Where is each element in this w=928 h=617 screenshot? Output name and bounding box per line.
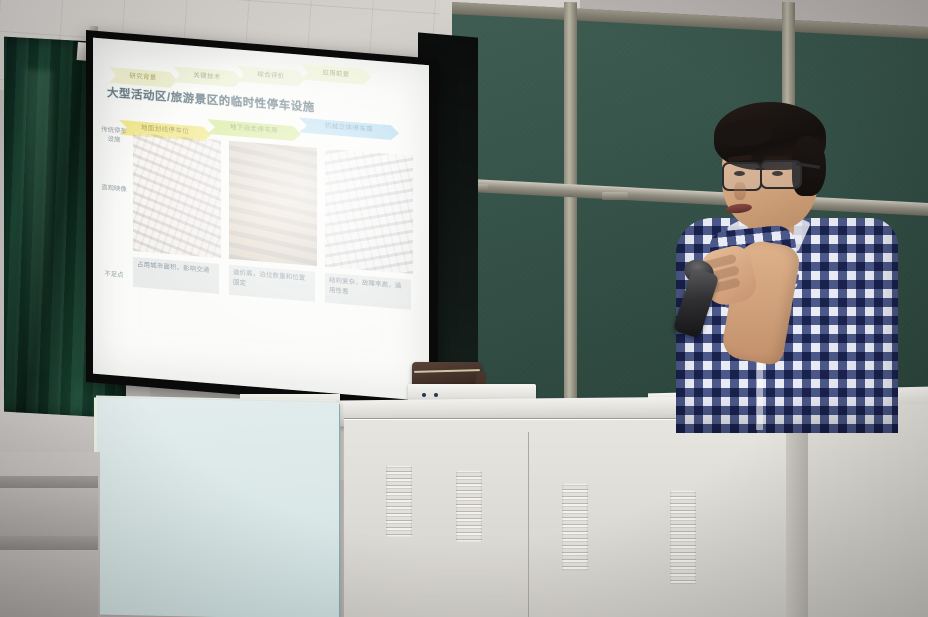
slide-category-1: 地下自走停车库 xyxy=(207,119,301,142)
step-edge xyxy=(0,536,98,550)
slide-category-2: 机械立体停车库 xyxy=(299,118,399,141)
slide-nav-item-1: 关键技术 xyxy=(173,66,241,88)
presenter-nose xyxy=(734,182,746,200)
projection-screen: 研究背景 关键技术 综合评价 应用前景 大型活动区/旅游景区的临时性停车设施 地… xyxy=(86,30,438,411)
cabinet-vent xyxy=(456,470,482,542)
slide-nav-item-3: 应用前景 xyxy=(301,64,371,86)
slide-note-0: 占用城市面积，影响交通 xyxy=(133,257,219,294)
slide-photo-0 xyxy=(133,133,221,258)
slide-row-label-0: 传统停车 设施 xyxy=(99,126,129,146)
lectern-panel xyxy=(94,397,339,617)
right-counter-front xyxy=(800,404,928,617)
cabinet-vent xyxy=(670,490,696,584)
curtain-highlight xyxy=(26,69,52,370)
presenter xyxy=(660,100,895,430)
cabinet-right-edge xyxy=(786,424,808,617)
slide-photo-2 xyxy=(325,149,413,274)
slide-nav-item-0: 研究背景 xyxy=(109,67,177,89)
step-face xyxy=(0,550,98,617)
slide-photo-1 xyxy=(229,141,317,266)
projected-slide: 研究背景 关键技术 综合评价 应用前景 大型活动区/旅游景区的临时性停车设施 地… xyxy=(93,38,429,402)
step-face xyxy=(0,488,98,536)
slide-note-2: 结构复杂，故障率高，适用性差 xyxy=(325,273,411,310)
slide-note-1: 造价高，泊位数量和位置固定 xyxy=(229,265,315,302)
chalkboard-divider xyxy=(564,2,577,402)
eyeglasses-bridge xyxy=(756,168,764,170)
cabinet-vent xyxy=(386,465,412,537)
slide-nav-item-2: 综合评价 xyxy=(237,65,305,87)
photo-scene: 研究背景 关键技术 综合评价 应用前景 大型活动区/旅游景区的临时性停车设施 地… xyxy=(0,0,928,617)
cabinet-vent xyxy=(562,483,588,571)
step-edge xyxy=(0,476,98,488)
slide-row-label-1: 直观映像 xyxy=(99,184,129,195)
slide-row-label-2: 不足点 xyxy=(99,270,129,281)
slide-photo-row xyxy=(133,133,421,277)
